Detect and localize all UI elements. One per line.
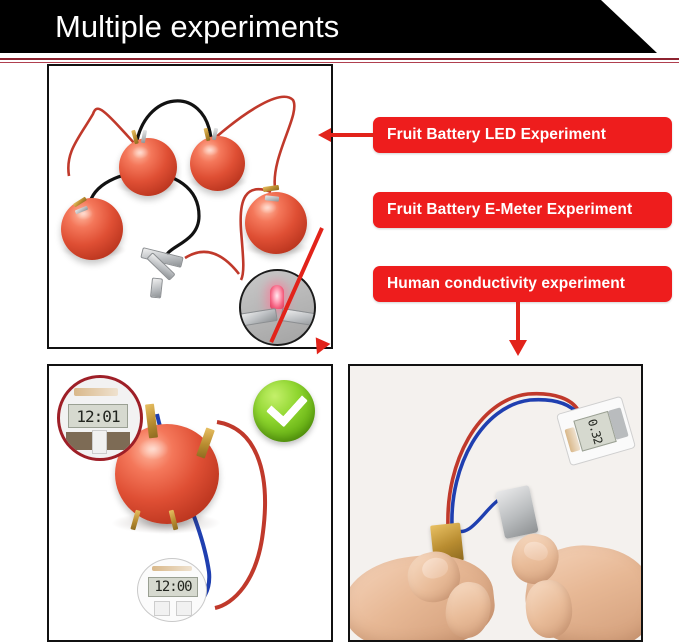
- callout-label: Fruit Battery E-Meter Experiment: [373, 201, 632, 219]
- arrow-human-head-icon: [509, 340, 527, 356]
- header-divider-line-thin: [0, 62, 679, 63]
- callout-label: Fruit Battery LED Experiment: [373, 126, 606, 144]
- callout-label: Human conductivity experiment: [373, 275, 625, 293]
- inset-clock-base-left: [66, 432, 92, 450]
- panel-fruit-battery-led: [47, 64, 333, 349]
- clock-button-right[interactable]: [176, 601, 192, 616]
- inset-clock-base-right: [104, 432, 130, 450]
- clock-closeup-inset: 12:01: [57, 375, 143, 461]
- callout-human-conductivity[interactable]: Human conductivity experiment: [373, 266, 672, 302]
- arrow-led-head-icon: [318, 128, 331, 142]
- tomato-1: [119, 138, 177, 196]
- red-wire: [215, 422, 265, 608]
- led-body-small: [150, 277, 163, 298]
- panel-fruit-battery-emeter: 12:00 12:01: [47, 364, 333, 642]
- check-icon: [266, 385, 308, 428]
- inset-clock-lcd-display: 12:01: [68, 404, 128, 428]
- digital-clock: 12:00: [137, 558, 207, 622]
- clock-lcd-display: 12:00: [148, 577, 198, 597]
- arrow-human-line: [516, 302, 520, 344]
- callout-fruit-battery-emeter[interactable]: Fruit Battery E-Meter Experiment: [373, 192, 672, 228]
- page-title: Multiple experiments: [55, 8, 339, 46]
- clock-button-left[interactable]: [154, 601, 170, 616]
- panel-human-conductivity: 0.32: [348, 364, 643, 642]
- clock-top-bar: [152, 566, 192, 571]
- inset-clip-left: [239, 308, 278, 327]
- arrow-led-line: [330, 133, 374, 137]
- header-divider-line: [0, 58, 679, 60]
- tomato-2: [190, 136, 245, 191]
- red-wire-4: [185, 252, 239, 274]
- check-badge: [253, 380, 315, 442]
- inset-clock-switch[interactable]: [92, 430, 107, 454]
- callout-fruit-battery-led[interactable]: Fruit Battery LED Experiment: [373, 117, 672, 153]
- inset-clock-top-bar: [74, 388, 118, 396]
- glowing-led-icon: [270, 285, 284, 309]
- tomato-3: [61, 198, 123, 260]
- led-closeup-inset: [239, 269, 316, 346]
